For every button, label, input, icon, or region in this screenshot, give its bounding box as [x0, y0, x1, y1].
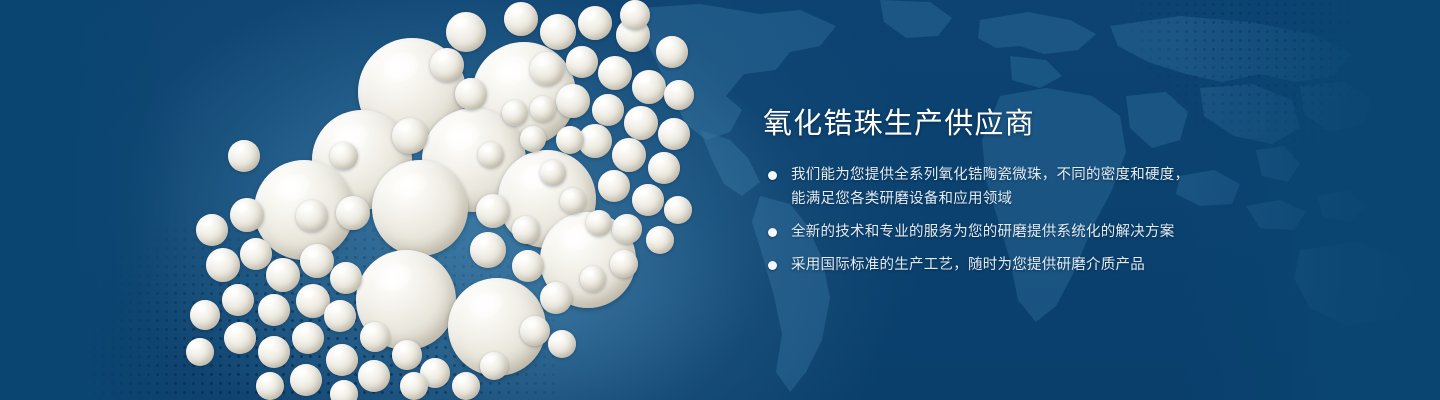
list-item: 采用国际标准的生产工艺，随时为您提供研磨介质产品: [763, 253, 1233, 277]
list-item-line: 我们能为您提供全系列氧化锆陶瓷微珠，不同的密度和硬度，: [791, 163, 1233, 187]
list-item-line: 采用国际标准的生产工艺，随时为您提供研磨介质产品: [791, 253, 1233, 277]
bullet-dot-icon: [768, 228, 777, 237]
list-item-line: 全新的技术和专业的服务为您的研磨提供系统化的解决方案: [791, 220, 1233, 244]
list-item-line: 能满足您各类研磨设备和应用领域: [791, 187, 1233, 211]
page-title: 氧化锆珠生产供应商: [763, 104, 1233, 144]
bullet-dot-icon: [768, 171, 777, 180]
list-item: 我们能为您提供全系列氧化锆陶瓷微珠，不同的密度和硬度， 能满足您各类研磨设备和应…: [763, 163, 1233, 211]
bullet-dot-icon: [768, 261, 777, 270]
banner-copy: 氧化锆珠生产供应商 我们能为您提供全系列氧化锆陶瓷微珠，不同的密度和硬度， 能满…: [763, 104, 1233, 277]
hero-banner: 氧化锆珠生产供应商 我们能为您提供全系列氧化锆陶瓷微珠，不同的密度和硬度， 能满…: [0, 0, 1440, 400]
list-item: 全新的技术和专业的服务为您的研磨提供系统化的解决方案: [763, 220, 1233, 244]
feature-list: 我们能为您提供全系列氧化锆陶瓷微珠，不同的密度和硬度， 能满足您各类研磨设备和应…: [763, 163, 1233, 277]
